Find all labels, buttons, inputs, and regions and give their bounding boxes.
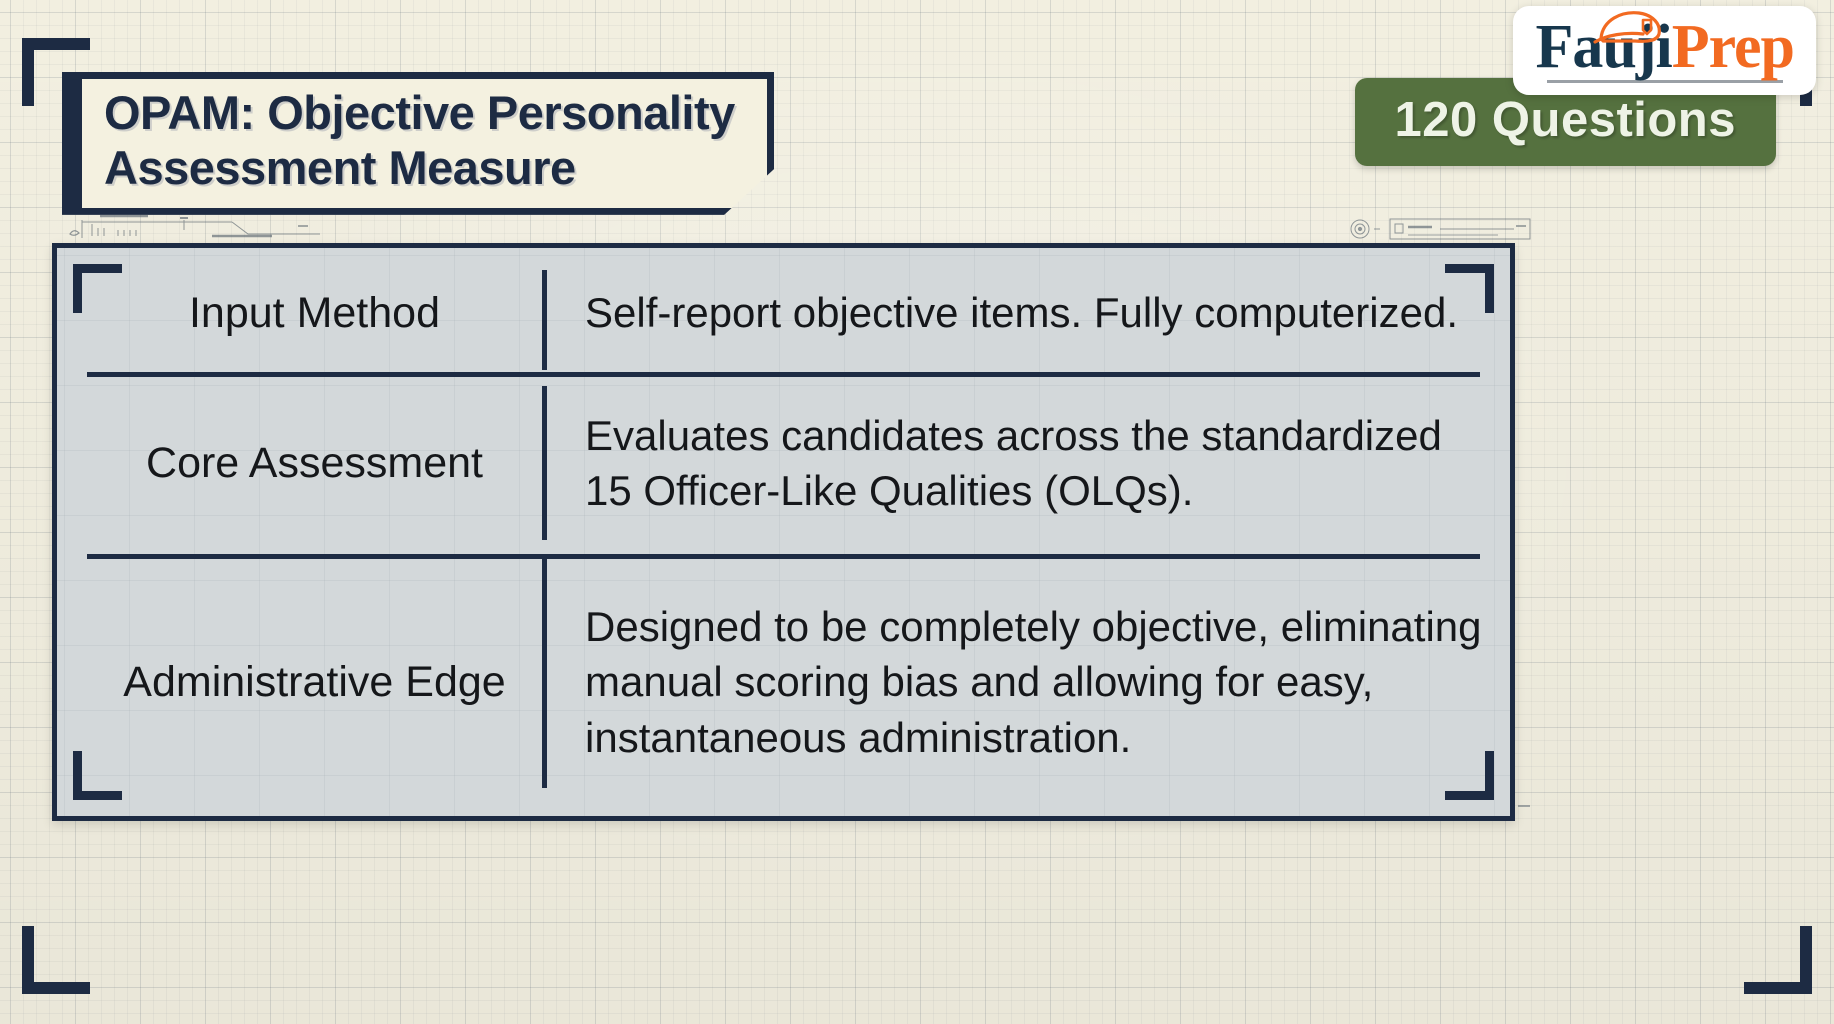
panel-corner-bottom-left-icon bbox=[73, 751, 122, 800]
frame-corner-bottom-left-icon bbox=[22, 926, 90, 994]
page-title: OPAM: Objective Personality Assessment M… bbox=[62, 72, 774, 215]
panel-corner-bottom-right-icon bbox=[1445, 751, 1494, 800]
page-title-line-2: Assessment Measure bbox=[104, 140, 735, 195]
brand-logo: FaujiPrep bbox=[1513, 6, 1816, 95]
brand-name-secondary: Prep bbox=[1672, 13, 1794, 81]
row-value: Evaluates candidates across the standard… bbox=[547, 372, 1480, 554]
row-label: Administrative Edge bbox=[87, 554, 542, 810]
blueprint-annotation-top-right-icon bbox=[1348, 214, 1534, 244]
spec-table: Input Method Self-report objective items… bbox=[57, 248, 1510, 816]
row-value-line: manual scoring bias and allowing for eas… bbox=[585, 654, 1482, 709]
row-value-line: Designed to be completely objective, eli… bbox=[585, 599, 1482, 654]
row-label: Core Assessment bbox=[87, 372, 542, 554]
table-row: Administrative Edge Designed to be compl… bbox=[87, 554, 1480, 810]
page-title-text: OPAM: Objective Personality Assessment M… bbox=[104, 85, 735, 196]
brand-logo-wordmark: FaujiPrep bbox=[1535, 16, 1794, 78]
page-title-line-1: OPAM: Objective Personality bbox=[104, 85, 735, 140]
row-value-line: Self-report objective items. Fully compu… bbox=[585, 285, 1458, 340]
panel-corner-top-right-icon bbox=[1445, 264, 1494, 313]
spec-panel: Input Method Self-report objective items… bbox=[52, 243, 1515, 821]
military-cap-icon bbox=[1591, 8, 1665, 52]
row-value-line: instantaneous administration. bbox=[585, 710, 1482, 765]
panel-corner-top-left-icon bbox=[73, 264, 122, 313]
row-value-line: Evaluates candidates across the standard… bbox=[585, 408, 1454, 463]
frame-corner-bottom-right-icon bbox=[1744, 926, 1812, 994]
table-row: Input Method Self-report objective items… bbox=[87, 254, 1480, 372]
frame-corner-top-left-icon bbox=[22, 38, 90, 106]
row-value: Designed to be completely objective, eli… bbox=[547, 554, 1508, 810]
row-value: Self-report objective items. Fully compu… bbox=[547, 254, 1484, 372]
row-label: Input Method bbox=[87, 254, 542, 372]
row-value-line: 15 Officer-Like Qualities (OLQs). bbox=[585, 463, 1454, 518]
slide-canvas: OPAM: Objective Personality Assessment M… bbox=[0, 0, 1834, 1024]
table-row: Core Assessment Evaluates candidates acr… bbox=[87, 372, 1480, 554]
